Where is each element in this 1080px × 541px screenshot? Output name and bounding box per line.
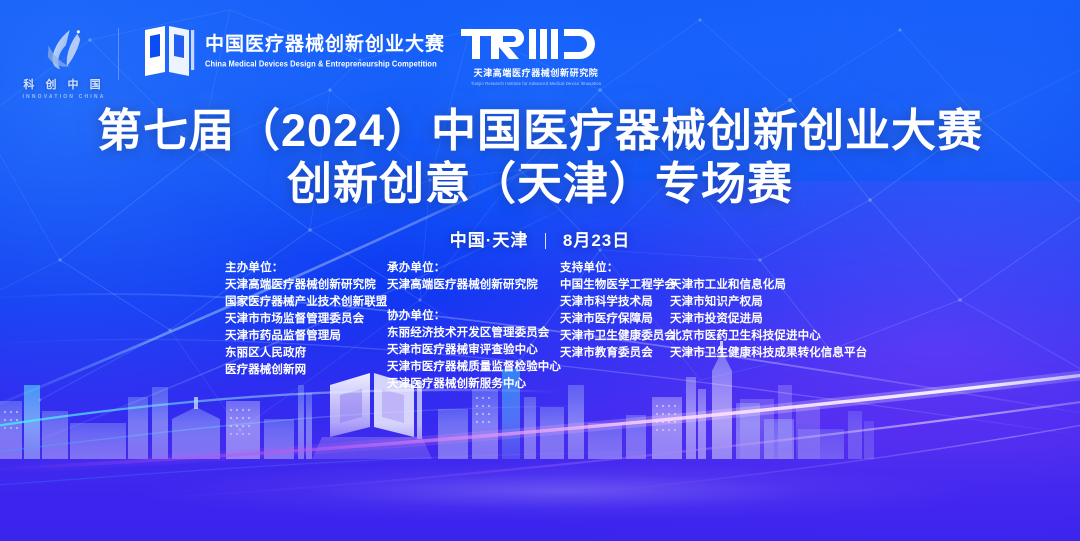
triid-logo: 天津高端医疗器械创新研究院 Tianjin Research Institute… [461, 24, 611, 86]
competition-logo: 中国医疗器械创新创业大赛 China Medical Devices Desig… [143, 24, 445, 78]
list-item: 天津市卫生健康科技成果转化信息平台 [670, 345, 867, 362]
kechuang-en-label: INNOVATION CHINA [22, 94, 105, 100]
list-item: 天津市医疗器械审评查验中心 [387, 342, 560, 359]
list-item: 天津高端医疗器械创新研究院 [225, 277, 387, 294]
date-label: 8月23日 [563, 231, 630, 250]
list-item: 天津市科学技术局 [560, 294, 670, 311]
organizer-group-undertaker: 承办单位： 天津高端医疗器械创新研究院 [387, 260, 560, 294]
group-heading: 协办单位： [387, 308, 560, 325]
competition-en-label: China Medical Devices Design & Entrepren… [205, 58, 445, 68]
title-line-1: 第七届（2024）中国医疗器械创新创业大赛 [0, 104, 1080, 157]
list-item: 天津市知识产权局 [670, 294, 867, 311]
open-book-mark-icon [143, 24, 195, 78]
list-item: 天津市工业和信息化局 [670, 277, 867, 294]
list-item: 天津高端医疗器械创新研究院 [387, 277, 560, 294]
organizer-group-host: 主办单位： 天津高端医疗器械创新研究院 国家医疗器械产业技术创新联盟 天津市市场… [225, 260, 387, 379]
title-line-2: 创新创意（天津）专场赛 [0, 157, 1080, 210]
list-item: 天津市卫生健康委员会 [560, 328, 670, 345]
column-spacer [670, 260, 867, 277]
event-poster: 科 创 中 国 INNOVATION CHINA 中国医疗器械创新创业大赛 Ch… [0, 0, 1080, 541]
info-column-4: 天津市工业和信息化局 天津市知识产权局 天津市投资促进局 北京市医药卫生科技促进… [670, 260, 867, 362]
list-item: 中国生物医学工程学会 [560, 277, 670, 294]
info-column-2: 承办单位： 天津高端医疗器械创新研究院 协办单位： 东丽经济技术开发区管理委员会… [387, 260, 560, 393]
page-title: 第七届（2024）中国医疗器械创新创业大赛 创新创意（天津）专场赛 [0, 104, 1080, 210]
bird-mark-icon [36, 28, 92, 72]
date-separator [545, 233, 546, 249]
organizer-group-coorganizer: 协办单位： 东丽经济技术开发区管理委员会 天津市医疗器械审评查验中心 天津市医疗… [387, 308, 560, 393]
triid-en-label: Tianjin Research Institute for Advanced … [471, 81, 601, 87]
list-item: 医疗器械创新网 [225, 362, 387, 379]
list-item: 东丽经济技术开发区管理委员会 [387, 325, 560, 342]
date-location-line: 中国·天津 8月23日 [0, 226, 1080, 251]
info-column-3: 支持单位： 中国生物医学工程学会 天津市科学技术局 天津市医疗保障局 天津市卫生… [560, 260, 670, 362]
list-item: 东丽区人民政府 [225, 345, 387, 362]
list-item: 国家医疗器械产业技术创新联盟 [225, 294, 387, 311]
list-item: 天津市投资促进局 [670, 311, 867, 328]
competition-cn-label: 中国医疗器械创新创业大赛 [205, 34, 445, 56]
logo-bar: 科 创 中 国 INNOVATION CHINA 中国医疗器械创新创业大赛 Ch… [18, 24, 611, 100]
list-item: 天津医疗器械创新服务中心 [387, 376, 560, 393]
organizer-info-block: 主办单位： 天津高端医疗器械创新研究院 国家医疗器械产业技术创新联盟 天津市市场… [225, 260, 867, 393]
kechuang-cn-label: 科 创 中 国 [23, 76, 104, 92]
list-item: 天津市药品监督管理局 [225, 328, 387, 345]
kechuang-china-logo: 科 创 中 国 INNOVATION CHINA [18, 24, 110, 100]
list-item: 天津市医疗保障局 [560, 311, 670, 328]
triid-wordmark-icon [461, 26, 611, 62]
location-label: 中国·天津 [450, 231, 529, 250]
list-item: 天津市市场监督管理委员会 [225, 311, 387, 328]
logo-divider [118, 28, 119, 80]
group-heading: 主办单位： [225, 260, 387, 277]
triid-cn-label: 天津高端医疗器械创新研究院 [474, 66, 599, 79]
list-item: 天津市医疗器械质量监督检验中心 [387, 359, 560, 376]
info-column-1: 主办单位： 天津高端医疗器械创新研究院 国家医疗器械产业技术创新联盟 天津市市场… [225, 260, 387, 379]
group-heading: 支持单位： [560, 260, 670, 277]
list-item: 天津市教育委员会 [560, 345, 670, 362]
list-item: 北京市医药卫生科技促进中心 [670, 328, 867, 345]
group-heading: 承办单位： [387, 260, 560, 277]
